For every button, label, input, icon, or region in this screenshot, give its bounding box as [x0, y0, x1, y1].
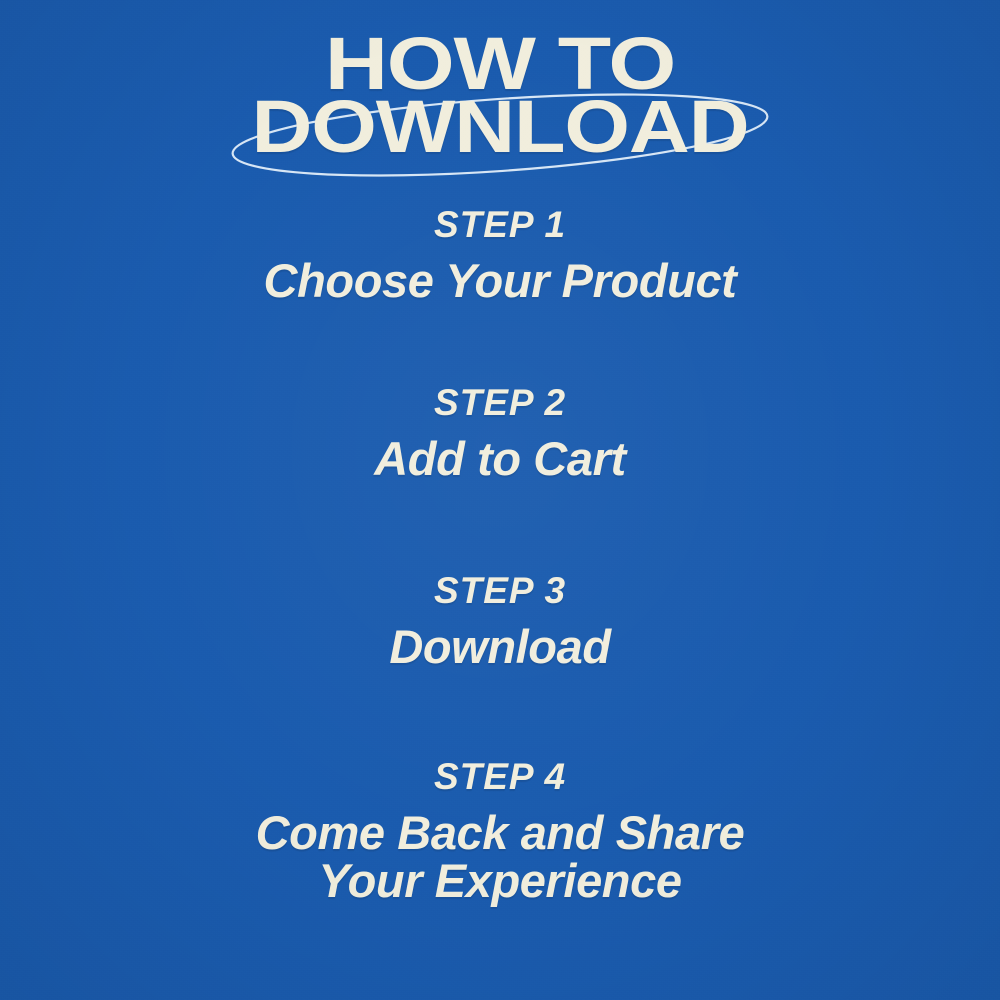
- step-4-label: STEP 4: [0, 758, 1000, 795]
- how-to-download-poster: HOW TO DOWNLOAD STEP 1 Choose Your Produ…: [0, 0, 1000, 1000]
- step-item-4: STEP 4 Come Back and Share Your Experien…: [0, 758, 1000, 906]
- step-3-label: STEP 3: [0, 572, 1000, 609]
- title-block: HOW TO DOWNLOAD: [0, 34, 1000, 184]
- step-2-label: STEP 2: [0, 384, 1000, 421]
- steps-list: STEP 1 Choose Your Product STEP 2 Add to…: [0, 206, 1000, 1000]
- title-line-download: DOWNLOAD: [0, 97, 1000, 158]
- step-4-title: Come Back and Share Your Experience: [0, 809, 1000, 906]
- step-item-2: STEP 2 Add to Cart: [0, 384, 1000, 483]
- step-item-3: STEP 3 Download: [0, 572, 1000, 671]
- step-3-title: Download: [0, 623, 1000, 671]
- step-1-title: Choose Your Product: [0, 257, 1000, 305]
- title-text: HOW TO DOWNLOAD: [0, 34, 1000, 157]
- step-item-1: STEP 1 Choose Your Product: [0, 206, 1000, 305]
- step-1-label: STEP 1: [0, 206, 1000, 243]
- step-2-title: Add to Cart: [0, 435, 1000, 483]
